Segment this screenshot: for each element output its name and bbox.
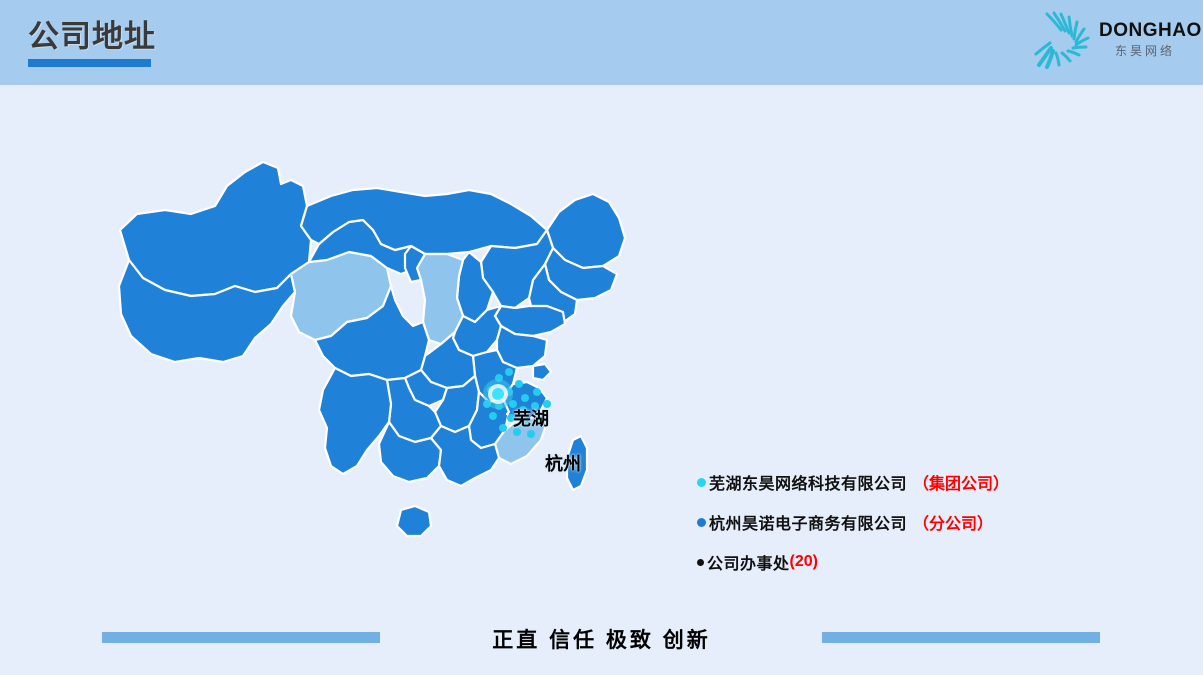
header-band: 公司地址 xyxy=(0,0,1203,85)
legend-marker-black-icon xyxy=(697,559,704,566)
china-map-svg xyxy=(95,110,715,610)
china-map: 芜湖 杭州 xyxy=(95,110,715,610)
legend-item-group-company: 芜湖东昊网络科技有限公司 （集团公司） xyxy=(697,462,1027,502)
legend-tag: （分公司） xyxy=(913,510,993,534)
office-dot xyxy=(499,424,507,432)
legend-tag: (20) xyxy=(790,553,818,571)
legend-label: 公司办事处 xyxy=(707,550,790,574)
brand-logo-text: DONGHAO 东昊网络 xyxy=(1099,20,1191,60)
legend-marker-blue-icon xyxy=(697,518,706,527)
brand-logo: DONGHAO 东昊网络 xyxy=(1031,8,1191,74)
brand-name-cn: 东昊网络 xyxy=(1099,42,1191,60)
legend-item-offices: 公司办事处 (20) xyxy=(697,542,1027,582)
legend: 芜湖东昊网络科技有限公司 （集团公司） 杭州昊诺电子商务有限公司 （分公司） 公… xyxy=(697,462,1027,582)
legend-tag: （集团公司） xyxy=(913,470,1009,494)
footer-slogan: 正直 信任 极致 创新 xyxy=(0,624,1203,654)
legend-marker-cyan-icon xyxy=(697,478,706,487)
page-title-wrap: 公司地址 xyxy=(28,18,156,67)
office-dot xyxy=(521,394,529,402)
legend-label: 芜湖东昊网络科技有限公司 xyxy=(709,470,907,494)
legend-item-branch-company: 杭州昊诺电子商务有限公司 （分公司） xyxy=(697,502,1027,542)
office-dot xyxy=(527,430,535,438)
page-title: 公司地址 xyxy=(28,18,156,56)
slide-root: 公司地址 xyxy=(0,0,1203,675)
office-dot xyxy=(515,380,523,388)
province-hainan xyxy=(397,506,431,536)
brand-name-en: DONGHAO xyxy=(1099,20,1191,42)
map-label-wuhu: 芜湖 xyxy=(513,405,549,431)
office-dot xyxy=(533,388,541,396)
province-xinjiang xyxy=(120,162,311,296)
legend-label: 杭州昊诺电子商务有限公司 xyxy=(709,510,907,534)
title-underline xyxy=(28,59,151,67)
office-dot xyxy=(505,368,513,376)
office-dot xyxy=(489,412,497,420)
map-label-hangzhou: 杭州 xyxy=(545,450,581,476)
headquarters-marker-wuhu xyxy=(483,379,513,409)
donghao-wing-logo-icon xyxy=(1031,8,1101,74)
province-shanghai xyxy=(533,364,551,380)
